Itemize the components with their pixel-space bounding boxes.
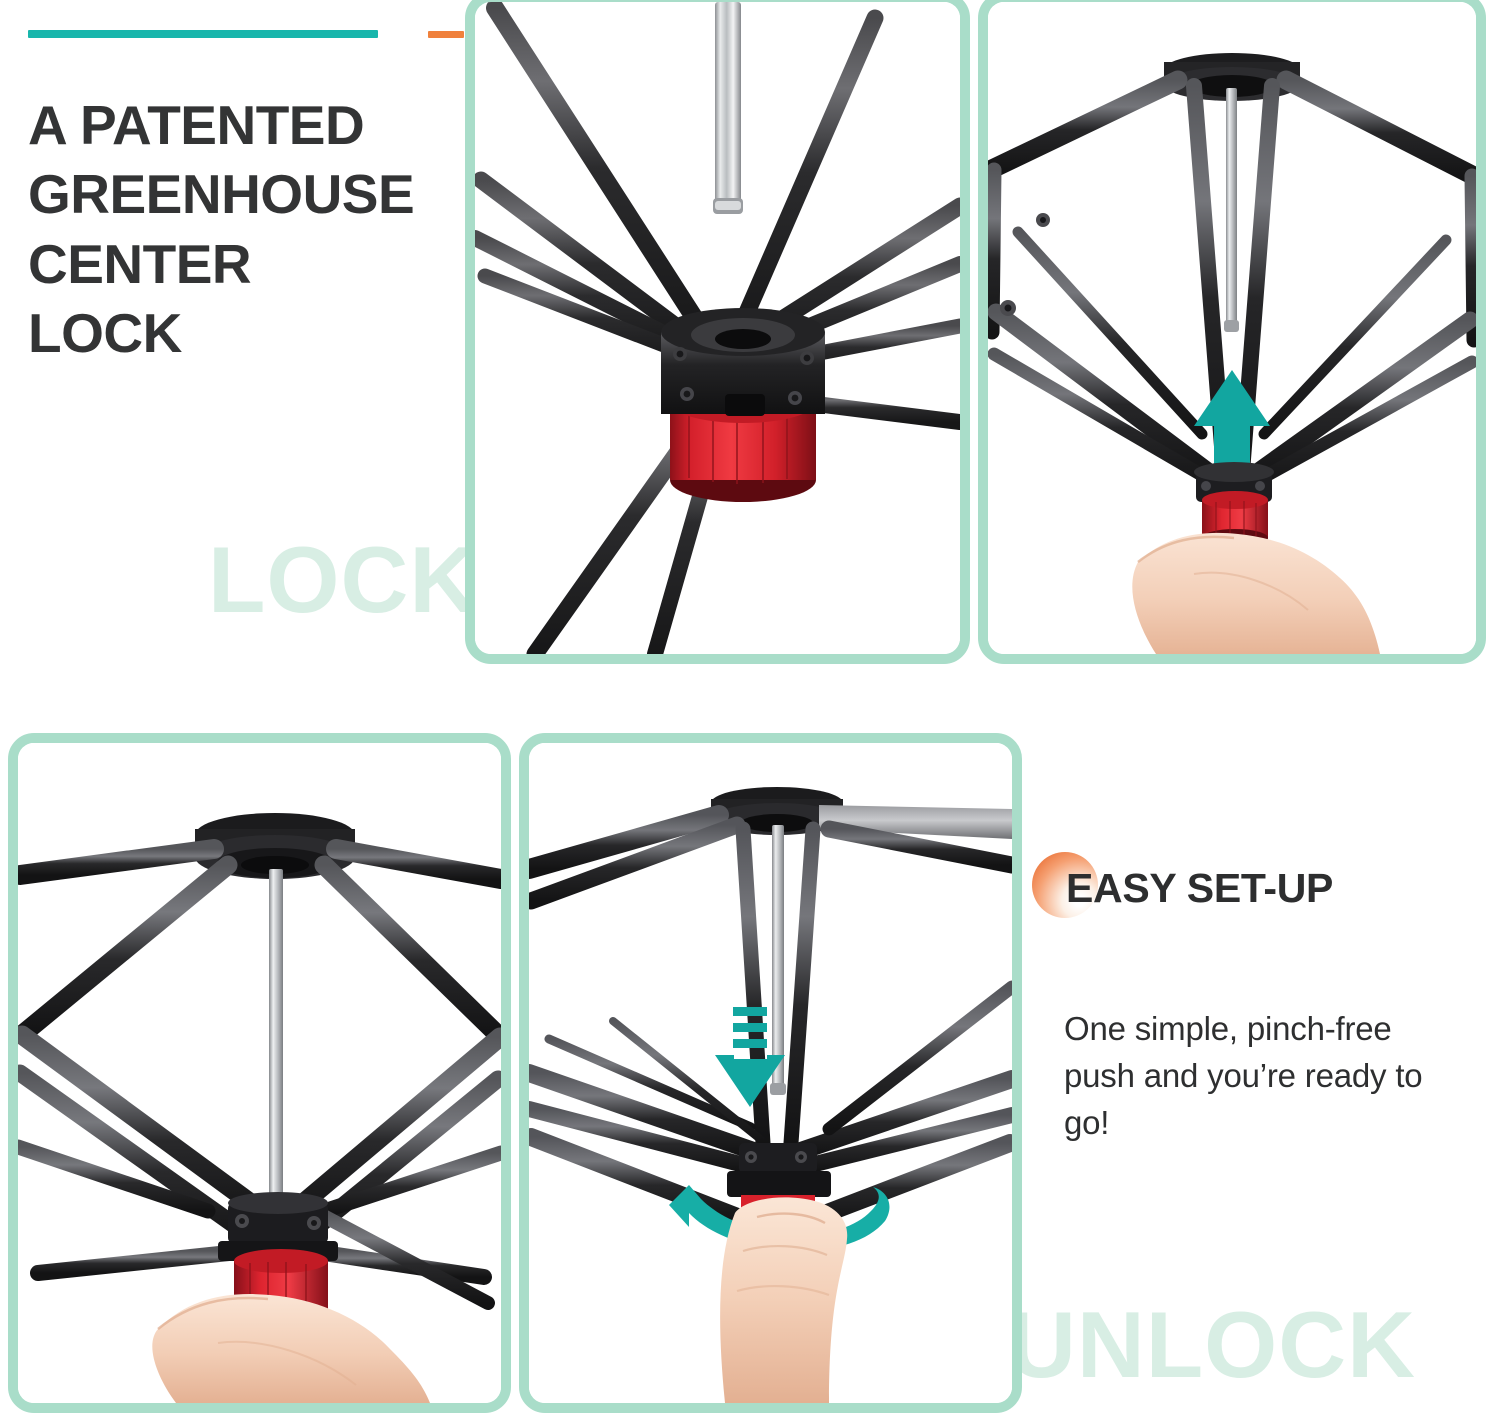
locked-frame-illustration bbox=[18, 743, 501, 1403]
photo-locked-frame bbox=[18, 743, 501, 1403]
easy-setup-heading: EASY SET-UP bbox=[1066, 866, 1333, 911]
panel-center-lock-closeup bbox=[465, 0, 970, 664]
easy-setup-block: EASY SET-UP One simple, pinch-free push … bbox=[1032, 852, 1452, 1147]
headline-block: A PATENTED GREENHOUSE CENTER LOCK bbox=[28, 30, 458, 368]
photo-lock-lift bbox=[988, 2, 1476, 654]
orange-rule-icon bbox=[428, 31, 464, 38]
watermark-unlock: UNLOCK bbox=[1008, 1298, 1416, 1392]
teal-rule-icon bbox=[28, 30, 378, 38]
center-lock-closeup-illustration bbox=[475, 2, 960, 654]
panel-unlock-twist bbox=[519, 733, 1022, 1413]
easy-setup-body: One simple, pinch-free push and you’re r… bbox=[1064, 1006, 1452, 1147]
photo-unlock-twist bbox=[529, 743, 1012, 1403]
accent-rules bbox=[28, 30, 458, 39]
panel-lock-lift bbox=[978, 0, 1486, 664]
page-title: A PATENTED GREENHOUSE CENTER LOCK bbox=[28, 91, 458, 368]
easy-setup-heading-row: EASY SET-UP bbox=[1032, 852, 1452, 944]
panel-locked-frame bbox=[8, 733, 511, 1413]
unlock-twist-illustration bbox=[529, 743, 1012, 1403]
lock-lift-illustration bbox=[988, 2, 1476, 654]
photo-center-lock-closeup bbox=[475, 2, 960, 654]
watermark-lock: LOCK bbox=[208, 533, 478, 627]
